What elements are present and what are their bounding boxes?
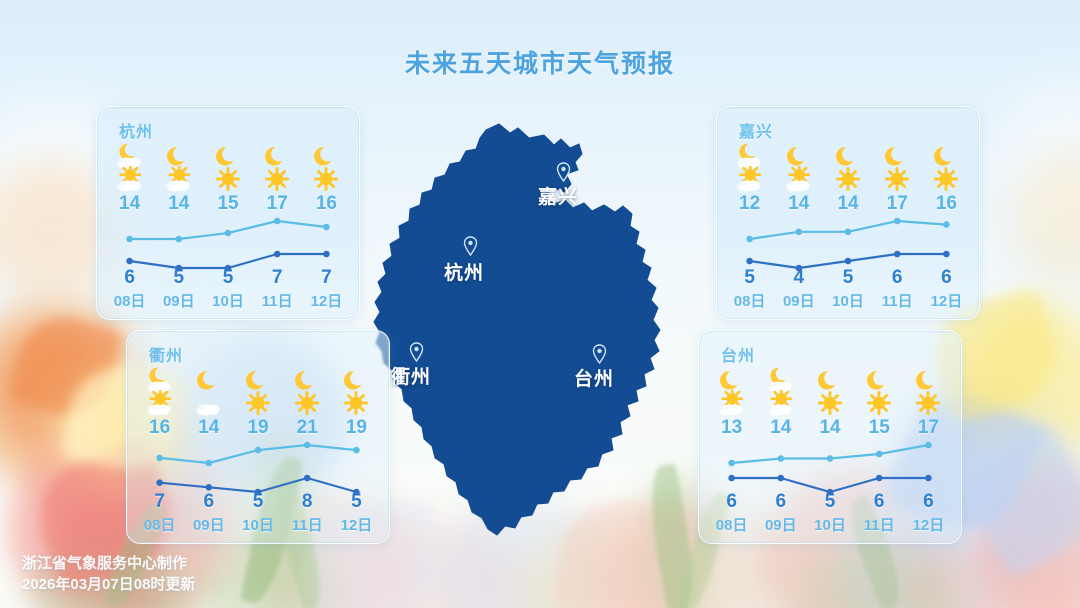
- low-temperature-value: 6: [707, 491, 756, 513]
- footer-line-producer: 浙江省气象服务中心制作: [22, 553, 195, 575]
- partly-cloudy-day-icon: [782, 166, 816, 192]
- low-temperature-value: 6: [855, 491, 904, 513]
- high-temperature-value: 17: [253, 193, 302, 215]
- forecast-panel-hangzhou: 杭州14608日14509日15510日17711日16712日: [96, 106, 360, 320]
- day-column[interactable]: 16712日: [302, 141, 351, 313]
- low-temperature-value: 5: [725, 267, 774, 289]
- high-temperature-value: 15: [203, 193, 252, 215]
- day-column[interactable]: 21811日: [283, 365, 332, 537]
- day-columns: 14608日14509日15510日17711日16712日: [105, 141, 351, 313]
- high-temperature-value: 16: [302, 193, 351, 215]
- high-temperature-value: 21: [283, 417, 332, 439]
- low-temperature-value: 6: [184, 491, 233, 513]
- forecast-panel-jiaxing: 嘉兴12508日14409日14510日17611日16612日: [716, 106, 980, 320]
- low-temperature-value: 5: [154, 267, 203, 289]
- map-label-hangzhou: 杭州: [444, 258, 484, 285]
- date-label: 09日: [774, 290, 823, 311]
- map-label-jiaxing: 嘉兴: [538, 182, 578, 209]
- low-temperature-value: 5: [233, 491, 282, 513]
- high-temperature-value: 15: [855, 417, 904, 439]
- map-label-quzhou: 衢州: [391, 362, 431, 389]
- date-label: 11日: [855, 514, 904, 535]
- location-pin-icon: [592, 344, 607, 364]
- high-temperature-value: 13: [707, 417, 756, 439]
- date-label: 12日: [302, 290, 351, 311]
- high-temperature-value: 12: [725, 193, 774, 215]
- day-column[interactable]: 14510日: [805, 365, 854, 537]
- bg-flower-blob: [200, 540, 340, 608]
- low-temperature-value: 6: [904, 491, 953, 513]
- sunny-icon: [862, 390, 896, 416]
- location-pin-icon: [556, 162, 571, 182]
- high-temperature-value: 14: [154, 193, 203, 215]
- low-temperature-value: 5: [805, 491, 854, 513]
- zhejiang-map: 杭州 嘉兴 衢州 台州: [368, 108, 718, 558]
- bg-flower-petal: [7, 307, 125, 425]
- date-label: 10日: [805, 514, 854, 535]
- high-temperature-value: 16: [922, 193, 971, 215]
- panel-city-name: 衢州: [149, 342, 183, 366]
- map-province-shape: [374, 124, 660, 535]
- day-column[interactable]: 19512日: [332, 365, 381, 537]
- low-temperature-value: 6: [105, 267, 154, 289]
- day-column[interactable]: 16708日: [135, 365, 184, 537]
- bg-flower-blob: [0, 330, 110, 450]
- partly-cloudy-day-icon: [162, 166, 196, 192]
- infographic-canvas: 未来五天城市天气预报 杭州 嘉兴 衢州 台州 杭州14608日14509日155…: [0, 0, 1080, 608]
- high-temperature-value: 14: [756, 417, 805, 439]
- day-column[interactable]: 14609日: [184, 365, 233, 537]
- date-label: 12日: [922, 290, 971, 311]
- high-temperature-value: 14: [823, 193, 872, 215]
- partly-cloudy-day-icon: [143, 390, 177, 416]
- bg-flower-blob: [800, 540, 960, 608]
- date-label: 09日: [154, 290, 203, 311]
- location-pin-icon: [463, 236, 478, 256]
- date-label: 10日: [203, 290, 252, 311]
- bg-flower-blob: [900, 540, 1080, 608]
- map-label-taizhou: 台州: [574, 364, 614, 391]
- partly-cloudy-day-icon: [764, 390, 798, 416]
- bg-flower-blob: [960, 300, 1080, 480]
- province-outline: [374, 124, 660, 535]
- sunny-icon: [929, 166, 963, 192]
- footer-line-updated: 2026年03月07日08时更新: [22, 574, 195, 596]
- date-label: 10日: [233, 514, 282, 535]
- high-temperature-value: 14: [105, 193, 154, 215]
- date-label: 09日: [184, 514, 233, 535]
- low-temperature-value: 6: [873, 267, 922, 289]
- sunny-icon: [211, 166, 245, 192]
- high-temperature-value: 19: [233, 417, 282, 439]
- date-label: 08日: [105, 290, 154, 311]
- low-temperature-value: 8: [283, 491, 332, 513]
- date-label: 08日: [135, 514, 184, 535]
- sunny-icon: [309, 166, 343, 192]
- date-label: 08日: [707, 514, 756, 535]
- high-temperature-value: 14: [805, 417, 854, 439]
- date-label: 11日: [253, 290, 302, 311]
- day-column[interactable]: 15611日: [855, 365, 904, 537]
- day-column[interactable]: 14510日: [823, 141, 872, 313]
- day-column[interactable]: 13608日: [707, 365, 756, 537]
- day-column[interactable]: 17612日: [904, 365, 953, 537]
- date-label: 09日: [756, 514, 805, 535]
- day-column[interactable]: 15510日: [203, 141, 252, 313]
- panel-city-name: 台州: [721, 342, 755, 366]
- page-title: 未来五天城市天气预报: [0, 44, 1080, 80]
- date-label: 11日: [283, 514, 332, 535]
- high-temperature-value: 19: [332, 417, 381, 439]
- panel-city-name: 杭州: [119, 118, 153, 142]
- forecast-panel-quzhou: 衢州16708日14609日19510日21811日19512日: [126, 330, 390, 544]
- day-columns: 16708日14609日19510日21811日19512日: [135, 365, 381, 537]
- footer-credit: 浙江省气象服务中心制作 2026年03月07日08时更新: [22, 553, 195, 597]
- day-column[interactable]: 14608日: [105, 141, 154, 313]
- low-temperature-value: 7: [302, 267, 351, 289]
- high-temperature-value: 17: [904, 417, 953, 439]
- partly-cloudy-day-icon: [733, 166, 767, 192]
- sunny-icon: [339, 390, 373, 416]
- bg-flower-blob: [980, 470, 1080, 608]
- high-temperature-value: 16: [135, 417, 184, 439]
- bg-flower-blob: [1000, 80, 1080, 240]
- partly-cloudy-day-icon: [715, 390, 749, 416]
- low-temperature-value: 6: [922, 267, 971, 289]
- day-column[interactable]: 17711日: [253, 141, 302, 313]
- forecast-panel-taizhou: 台州13608日14609日14510日15611日17612日: [698, 330, 962, 544]
- sunny-icon: [911, 390, 945, 416]
- day-column[interactable]: 19510日: [233, 365, 282, 537]
- high-temperature-value: 14: [184, 417, 233, 439]
- day-column[interactable]: 17611日: [873, 141, 922, 313]
- sunny-icon: [290, 390, 324, 416]
- low-temperature-value: 5: [203, 267, 252, 289]
- low-temperature-value: 6: [756, 491, 805, 513]
- day-column[interactable]: 14409日: [774, 141, 823, 313]
- partly-cloudy-day-icon: [113, 166, 147, 192]
- day-column[interactable]: 16612日: [922, 141, 971, 313]
- day-column[interactable]: 14509日: [154, 141, 203, 313]
- bg-flower-blob: [1010, 150, 1080, 290]
- sunny-icon: [260, 166, 294, 192]
- date-label: 12日: [332, 514, 381, 535]
- panel-city-name: 嘉兴: [739, 118, 773, 142]
- sunny-icon: [241, 390, 275, 416]
- date-label: 11日: [873, 290, 922, 311]
- low-temperature-value: 5: [823, 267, 872, 289]
- day-columns: 12508日14409日14510日17611日16612日: [725, 141, 971, 313]
- day-column[interactable]: 14609日: [756, 365, 805, 537]
- sunny-icon: [813, 390, 847, 416]
- low-temperature-value: 4: [774, 267, 823, 289]
- sunny-icon: [831, 166, 865, 192]
- low-temperature-value: 7: [135, 491, 184, 513]
- date-label: 08日: [725, 290, 774, 311]
- high-temperature-value: 17: [873, 193, 922, 215]
- low-temperature-value: 5: [332, 491, 381, 513]
- day-columns: 13608日14609日14510日15611日17612日: [707, 365, 953, 537]
- day-column[interactable]: 12508日: [725, 141, 774, 313]
- cloudy-icon: [192, 390, 226, 416]
- low-temperature-value: 7: [253, 267, 302, 289]
- date-label: 12日: [904, 514, 953, 535]
- location-pin-icon: [409, 342, 424, 362]
- high-temperature-value: 14: [774, 193, 823, 215]
- date-label: 10日: [823, 290, 872, 311]
- bg-flower-petal: [952, 421, 1080, 580]
- sunny-icon: [880, 166, 914, 192]
